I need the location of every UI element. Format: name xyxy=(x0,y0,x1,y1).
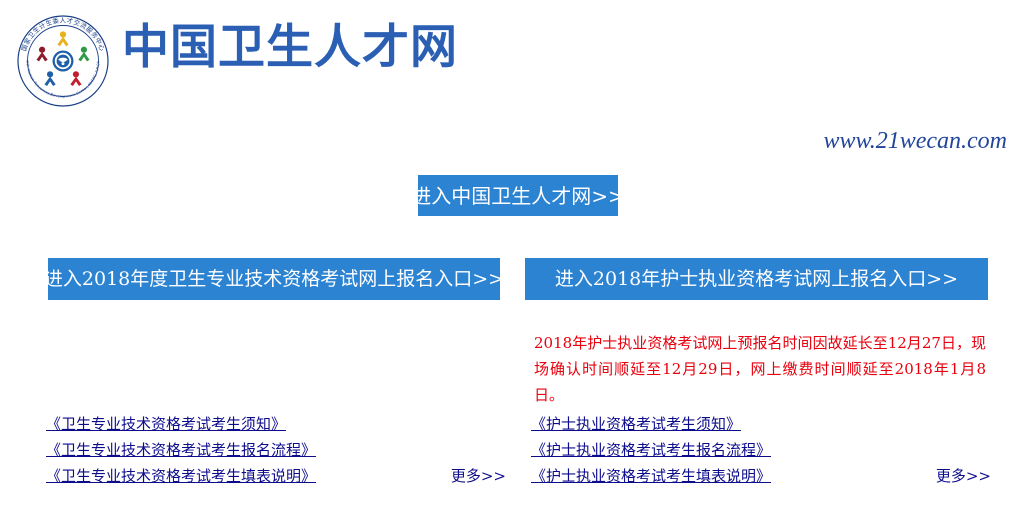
list-item: 《护士执业资格考试考生填表说明》 更多>> xyxy=(531,463,991,489)
page-title: 中国卫生人才网 xyxy=(122,18,458,78)
list-item: 《卫生专业技术资格考试考生须知》 xyxy=(46,411,506,437)
list-item: 《卫生专业技术资格考试考生报名流程》 xyxy=(46,437,506,463)
link-nurse-exam-registration-process[interactable]: 《护士执业资格考试考生报名流程》 xyxy=(531,441,771,459)
site-url-text: www.21wecan.com xyxy=(823,126,1007,156)
enter-main-site-button[interactable]: 进入中国卫生人才网>> xyxy=(418,175,618,216)
enter-health-professional-exam-registration-button[interactable]: 进入2018年度卫生专业技术资格考试网上报名入口>> xyxy=(48,258,500,300)
list-item: 《护士执业资格考试考生报名流程》 xyxy=(531,437,991,463)
site-logo: 国家卫生计生委人才交流服务中心 Health Human Resources D… xyxy=(16,14,110,108)
nurse-exam-deadline-notice: 2018年护士执业资格考试网上预报名时间因故延长至12月27日，现场确认时间顺延… xyxy=(534,330,986,408)
enter-nurse-license-exam-registration-button[interactable]: 进入2018年护士执业资格考试网上报名入口>> xyxy=(525,258,988,300)
nurse-license-links-column: 《护士执业资格考试考生须知》 《护士执业资格考试考生报名流程》 《护士执业资格考… xyxy=(531,411,991,489)
list-item: 《护士执业资格考试考生须知》 xyxy=(531,411,991,437)
health-professional-links-column: 《卫生专业技术资格考试考生须知》 《卫生专业技术资格考试考生报名流程》 《卫生专… xyxy=(46,411,506,489)
link-nurse-exam-candidate-notice[interactable]: 《护士执业资格考试考生须知》 xyxy=(531,415,741,433)
link-health-exam-form-instructions[interactable]: 《卫生专业技术资格考试考生填表说明》 xyxy=(46,467,316,485)
page-header: 国家卫生计生委人才交流服务中心 Health Human Resources D… xyxy=(0,0,1019,120)
link-nurse-exam-form-instructions[interactable]: 《护士执业资格考试考生填表说明》 xyxy=(531,467,771,485)
list-item: 《卫生专业技术资格考试考生填表说明》 更多>> xyxy=(46,463,506,489)
more-link-health-column[interactable]: 更多>> xyxy=(451,463,506,489)
more-link-nurse-column[interactable]: 更多>> xyxy=(936,463,991,489)
emblem-icon: 国家卫生计生委人才交流服务中心 Health Human Resources D… xyxy=(16,14,110,108)
link-health-exam-registration-process[interactable]: 《卫生专业技术资格考试考生报名流程》 xyxy=(46,441,316,459)
link-health-exam-candidate-notice[interactable]: 《卫生专业技术资格考试考生须知》 xyxy=(46,415,286,433)
